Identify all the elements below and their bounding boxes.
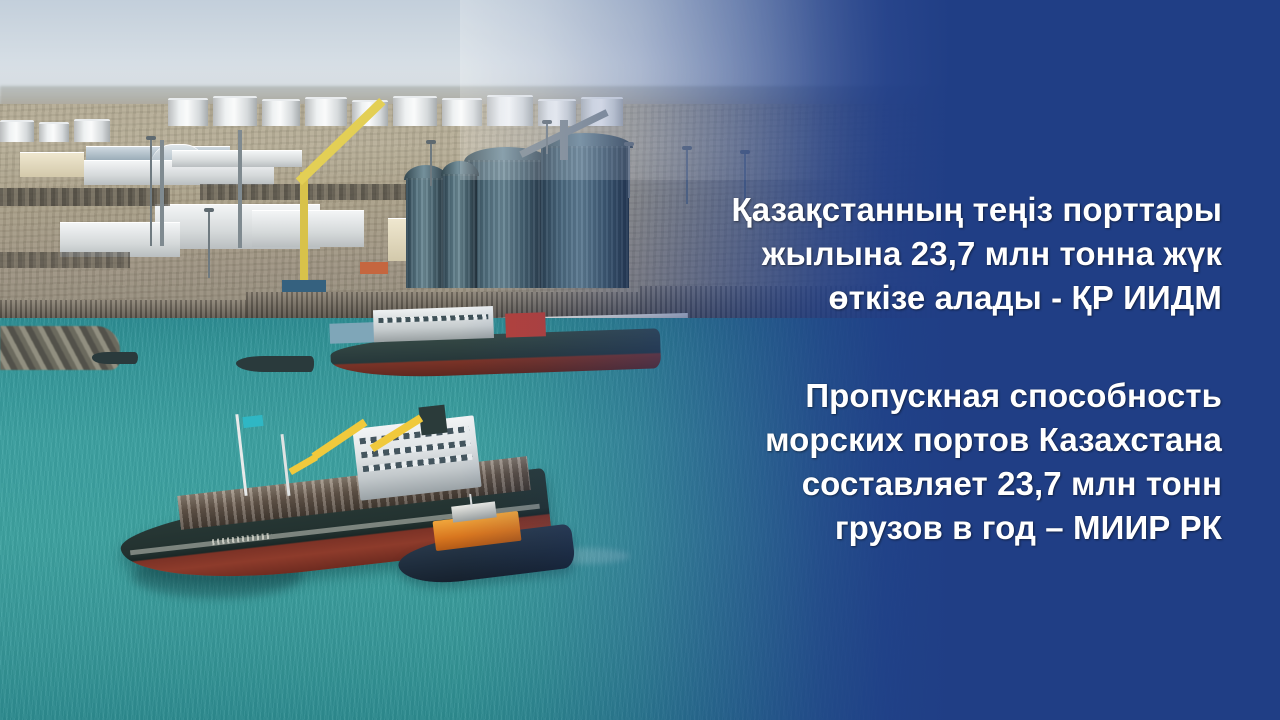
gantry-crane-leg bbox=[160, 140, 164, 246]
russian-line-2: морских портов Казахстана bbox=[622, 418, 1222, 462]
storage-tank-row bbox=[0, 108, 110, 142]
deck-crane bbox=[289, 454, 318, 475]
container-yard bbox=[0, 188, 170, 206]
storage-tank bbox=[0, 120, 34, 142]
storage-tank bbox=[39, 122, 69, 142]
russian-line-1: Пропускная способность bbox=[622, 374, 1222, 418]
warehouse bbox=[252, 210, 364, 247]
storage-tank bbox=[168, 98, 208, 126]
lamp-pole bbox=[208, 208, 210, 278]
storage-tank bbox=[213, 96, 257, 126]
small-boat bbox=[92, 352, 138, 364]
kazakh-line-2: жылына 23,7 млн тонна жүк bbox=[622, 232, 1222, 276]
storage-tank bbox=[262, 99, 300, 126]
bridge-windows bbox=[363, 454, 473, 472]
caption-russian: Пропускная способность морских портов Ка… bbox=[622, 374, 1222, 550]
lamp-pole bbox=[150, 136, 152, 246]
tanker-flag bbox=[242, 415, 263, 428]
warehouse bbox=[172, 150, 302, 167]
kazakh-line-1: Қазақстанның теңіз порттары bbox=[622, 188, 1222, 232]
small-boat bbox=[236, 356, 314, 372]
russian-line-4: грузов в год – МИИР РК bbox=[622, 506, 1222, 550]
storage-tank bbox=[305, 97, 347, 126]
kazakh-line-3: өткізе алады - ҚР ИИДМ bbox=[622, 276, 1222, 320]
grain-silo bbox=[406, 178, 446, 288]
lamp-pole bbox=[430, 140, 432, 186]
container bbox=[360, 262, 388, 274]
banner-image: Қазақстанның теңіз порттары жылына 23,7 … bbox=[0, 0, 1280, 720]
russian-line-3: составляет 23,7 млн тонн bbox=[622, 462, 1222, 506]
storage-tank bbox=[393, 96, 437, 126]
gantry-crane-leg bbox=[238, 130, 242, 248]
warehouse bbox=[20, 152, 84, 177]
storage-tank bbox=[74, 119, 110, 142]
container-yard bbox=[0, 252, 130, 268]
caption-block: Қазақстанның теңіз порттары жылына 23,7 … bbox=[622, 188, 1222, 550]
caption-kazakh: Қазақстанның теңіз порттары жылына 23,7 … bbox=[622, 188, 1222, 320]
